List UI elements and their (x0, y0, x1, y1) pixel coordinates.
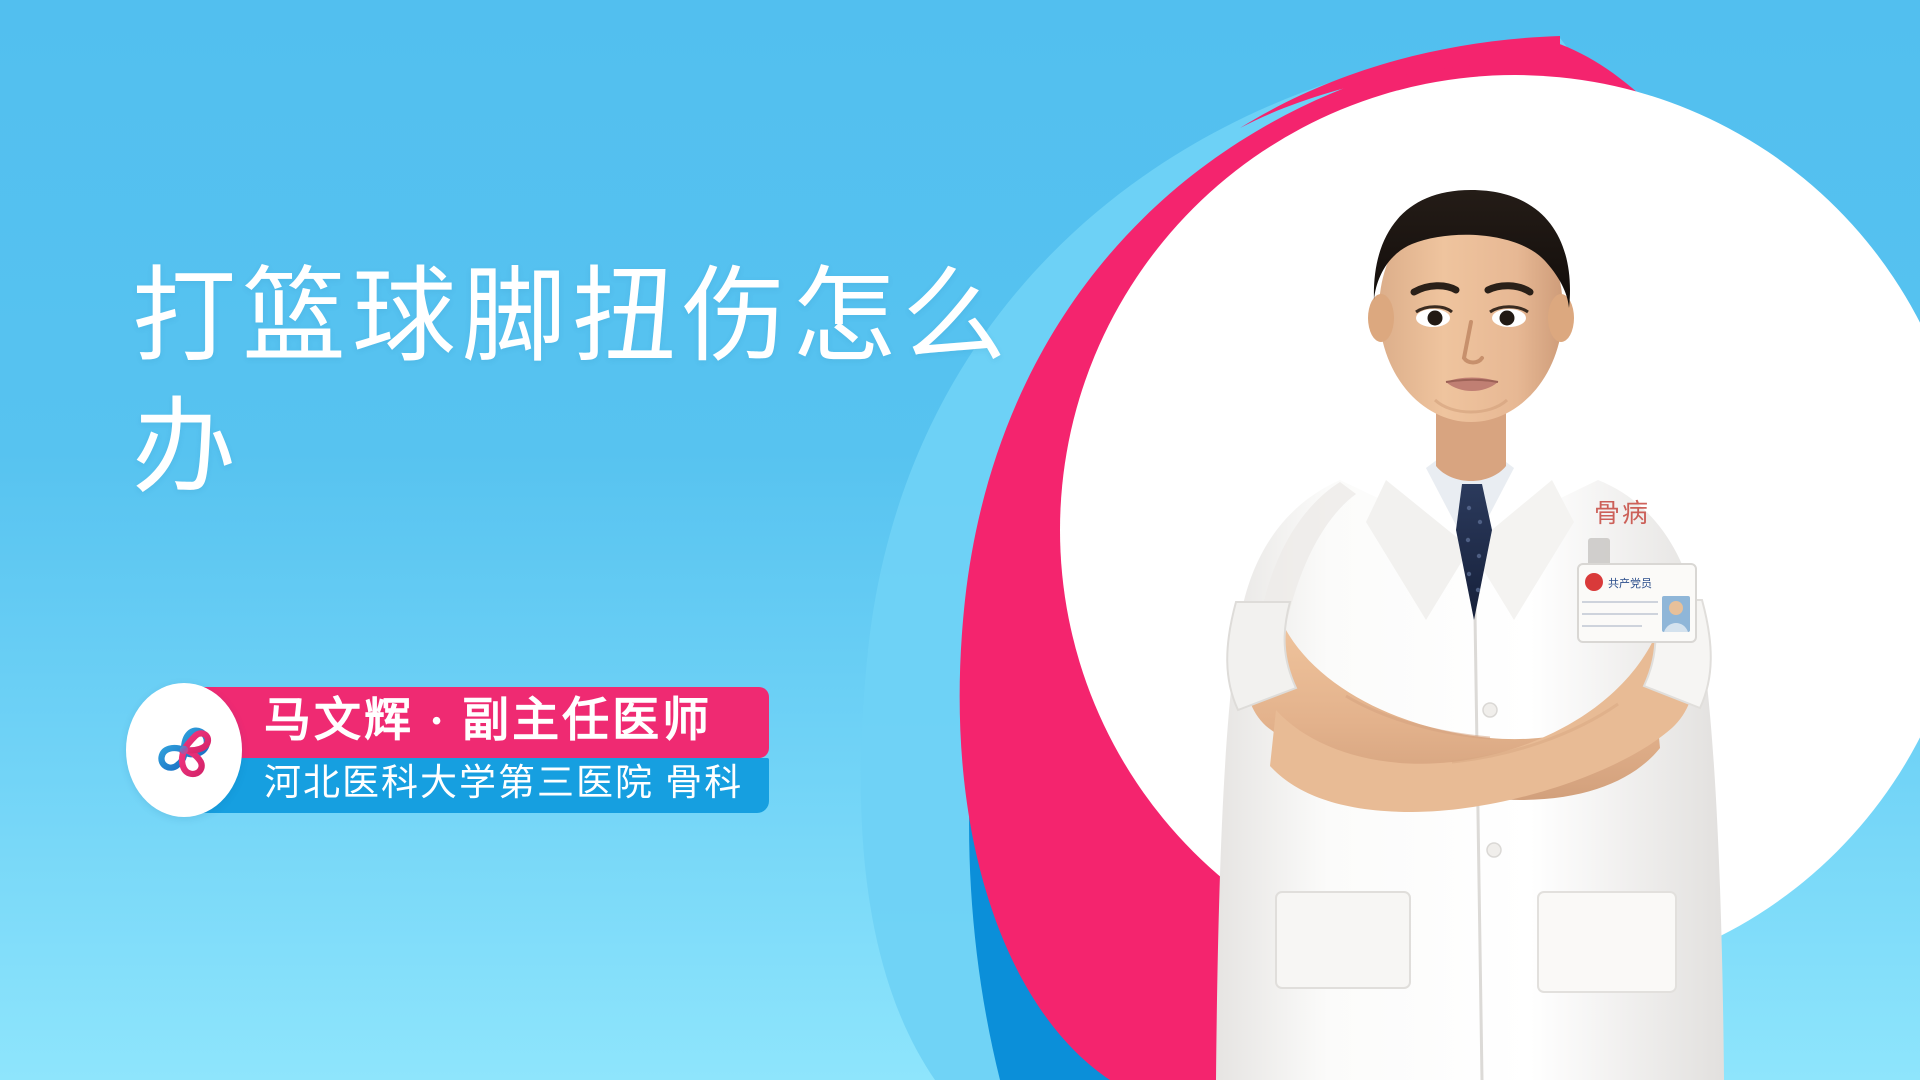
eye-left (1428, 311, 1443, 326)
video-title: 打篮球脚扭伤怎么 办 (132, 252, 1092, 514)
clover-infinity-icon (149, 715, 219, 785)
head (1368, 190, 1574, 422)
coat-pocket-left (1276, 892, 1410, 988)
coat-button (1487, 843, 1501, 857)
doctor-name-card: 马文辉 · 副主任医师 河北医科大学第三医院 骨科 (126, 683, 769, 817)
doctor-affiliation-line: 河北医科大学第三医院 骨科 (198, 758, 769, 813)
coat-button (1483, 703, 1497, 717)
coat-pocket-right (1538, 892, 1676, 992)
doctor-photo: 骨病 共产党员 (1190, 150, 1750, 1080)
title-line-2: 办 (132, 383, 1092, 514)
coat-embroidery-text: 骨病 (1594, 499, 1650, 528)
title-line-1: 打篮球脚扭伤怎么 (132, 252, 1092, 383)
eye-right (1500, 311, 1515, 326)
hospital-logo-badge (126, 683, 242, 817)
svg-text:共产党员: 共产党员 (1608, 576, 1652, 590)
name-bands: 马文辉 · 副主任医师 河北医科大学第三医院 骨科 (198, 687, 769, 813)
doctor-name-line: 马文辉 · 副主任医师 (198, 687, 769, 758)
title-card-stage: 骨病 共产党员 打篮球脚扭伤怎么 办 (0, 0, 1920, 1080)
